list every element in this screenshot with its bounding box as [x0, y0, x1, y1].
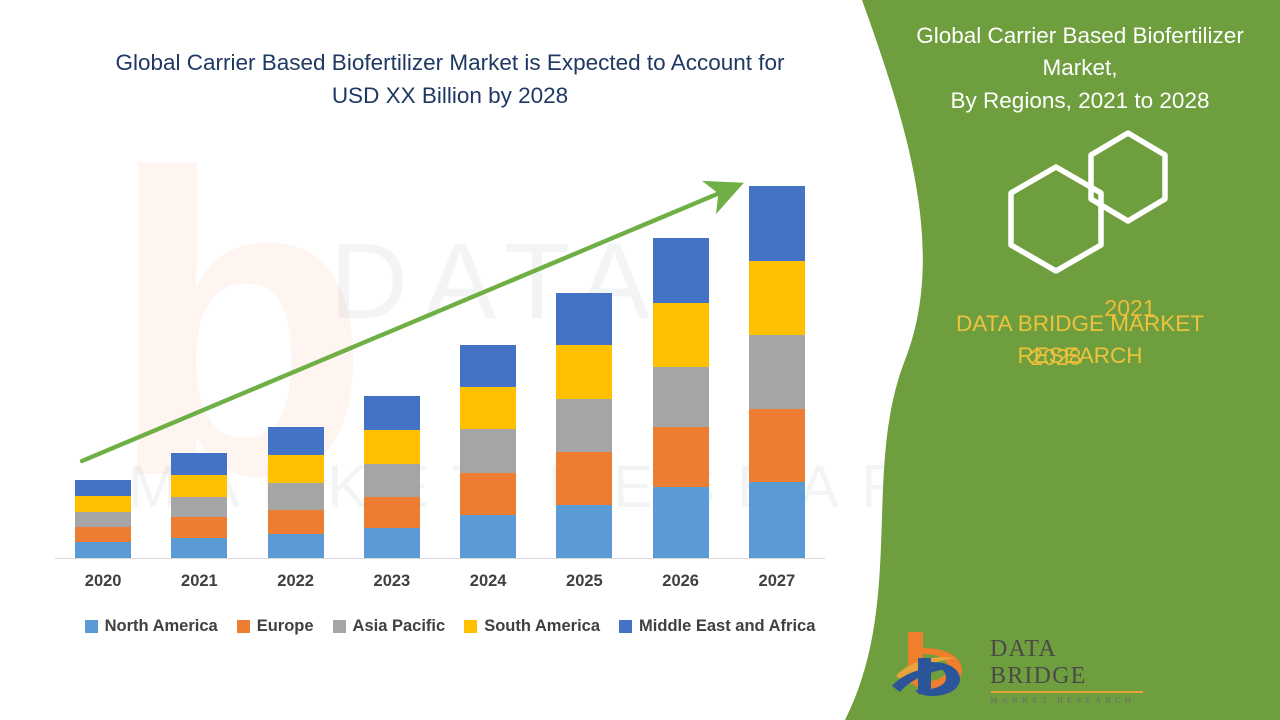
- infographic-slide: b DATA MARKET RESEARCH Global Carrier Ba…: [0, 0, 1280, 720]
- x-axis-label: 2025: [536, 572, 632, 591]
- bar-segment: [75, 496, 131, 512]
- bar-segment: [171, 497, 227, 517]
- bar-segment: [268, 455, 324, 483]
- bar-segment: [364, 396, 420, 430]
- bar-segment: [653, 303, 709, 367]
- bar-segment: [268, 510, 324, 534]
- legend-item[interactable]: South America: [464, 617, 600, 636]
- hexagon-outlines-icon: [880, 125, 1280, 300]
- chart-title: Global Carrier Based Biofertilizer Marke…: [60, 46, 840, 113]
- bar-segment: [556, 452, 612, 505]
- legend-color-swatch: [619, 620, 632, 633]
- x-axis-labels: 20202021202220232024202520262027: [55, 572, 825, 600]
- bar-segment: [268, 427, 324, 455]
- brand-name-line-1: DATA BRIDGE MARKET: [880, 308, 1280, 340]
- hexagon-group: 2021 2028: [880, 125, 1280, 300]
- x-axis-label: 2021: [151, 572, 247, 591]
- right-panel-title: Global Carrier Based Biofertilizer Marke…: [880, 20, 1280, 117]
- bar-segment: [460, 345, 516, 387]
- x-axis-label: 2026: [633, 572, 729, 591]
- bar-column: [749, 186, 805, 558]
- chart-title-line-2: USD XX Billion by 2028: [60, 79, 840, 112]
- chart-panel: Global Carrier Based Biofertilizer Marke…: [0, 0, 860, 720]
- logo-mark-icon: [890, 628, 986, 698]
- bar-segment: [171, 475, 227, 497]
- legend-item[interactable]: Asia Pacific: [333, 617, 446, 636]
- bar-segment: [268, 534, 324, 558]
- bar-column: [268, 427, 324, 558]
- legend-item[interactable]: Middle East and Africa: [619, 617, 815, 636]
- bar-segment: [749, 335, 805, 409]
- chart-legend: North AmericaEuropeAsia PacificSouth Ame…: [55, 617, 845, 636]
- x-axis-line: [55, 558, 825, 559]
- stacked-bar-group: [55, 160, 825, 558]
- bar-segment: [364, 528, 420, 558]
- x-axis-label: 2022: [248, 572, 344, 591]
- legend-label: North America: [105, 617, 218, 636]
- bar-segment: [460, 387, 516, 429]
- bar-segment: [75, 527, 131, 542]
- bar-segment: [460, 429, 516, 473]
- right-panel-title-line-1: Global Carrier Based Biofertilizer: [880, 20, 1280, 52]
- legend-label: Middle East and Africa: [639, 617, 815, 636]
- x-axis-label: 2020: [55, 572, 151, 591]
- logo-wordmark: DATA BRIDGE MARKET RESEARCH: [990, 636, 1143, 705]
- brand-name-line-2: RESEARCH: [880, 340, 1280, 372]
- bar-column: [75, 480, 131, 558]
- legend-color-swatch: [333, 620, 346, 633]
- legend-color-swatch: [464, 620, 477, 633]
- legend-item[interactable]: Europe: [237, 617, 314, 636]
- bar-segment: [171, 517, 227, 538]
- bar-segment: [75, 480, 131, 496]
- bar-segment: [460, 515, 516, 558]
- bar-segment: [749, 261, 805, 335]
- legend-item[interactable]: North America: [85, 617, 218, 636]
- brand-name: DATA BRIDGE MARKET RESEARCH: [880, 308, 1280, 372]
- bar-column: [460, 345, 516, 558]
- bar-segment: [653, 487, 709, 558]
- bar-segment: [653, 238, 709, 303]
- bar-segment: [749, 186, 805, 261]
- logo-subtitle-text: MARKET RESEARCH: [990, 695, 1143, 705]
- bar-segment: [75, 542, 131, 558]
- bar-segment: [556, 399, 612, 452]
- data-bridge-logo: DATA BRIDGE MARKET RESEARCH: [890, 628, 1130, 704]
- right-panel-content: Global Carrier Based Biofertilizer Marke…: [880, 0, 1280, 720]
- bar-segment: [749, 482, 805, 558]
- bar-segment: [460, 473, 516, 515]
- x-axis-label: 2027: [729, 572, 825, 591]
- bar-segment: [653, 427, 709, 487]
- right-panel-title-line-2: Market,: [880, 52, 1280, 84]
- legend-color-swatch: [237, 620, 250, 633]
- bar-segment: [556, 505, 612, 558]
- x-axis-label: 2023: [344, 572, 440, 591]
- bar-segment: [171, 453, 227, 475]
- bar-segment: [268, 483, 324, 510]
- right-panel-title-line-3: By Regions, 2021 to 2028: [880, 85, 1280, 117]
- bar-column: [556, 293, 612, 558]
- x-axis-label: 2024: [440, 572, 536, 591]
- bar-segment: [749, 409, 805, 482]
- bar-segment: [171, 538, 227, 558]
- logo-name-text: DATA BRIDGE: [990, 636, 1143, 690]
- legend-label: Europe: [257, 617, 314, 636]
- legend-label: Asia Pacific: [353, 617, 446, 636]
- bar-segment: [75, 512, 131, 527]
- bar-segment: [364, 464, 420, 497]
- bar-column: [171, 453, 227, 558]
- bar-segment: [653, 367, 709, 427]
- legend-label: South America: [484, 617, 600, 636]
- bar-column: [364, 396, 420, 558]
- bar-segment: [364, 430, 420, 464]
- bar-segment: [556, 345, 612, 399]
- legend-color-swatch: [85, 620, 98, 633]
- logo-divider: [991, 691, 1143, 693]
- bar-segment: [364, 497, 420, 528]
- bar-segment: [556, 293, 612, 345]
- bar-column: [653, 238, 709, 558]
- chart-title-line-1: Global Carrier Based Biofertilizer Marke…: [60, 46, 840, 79]
